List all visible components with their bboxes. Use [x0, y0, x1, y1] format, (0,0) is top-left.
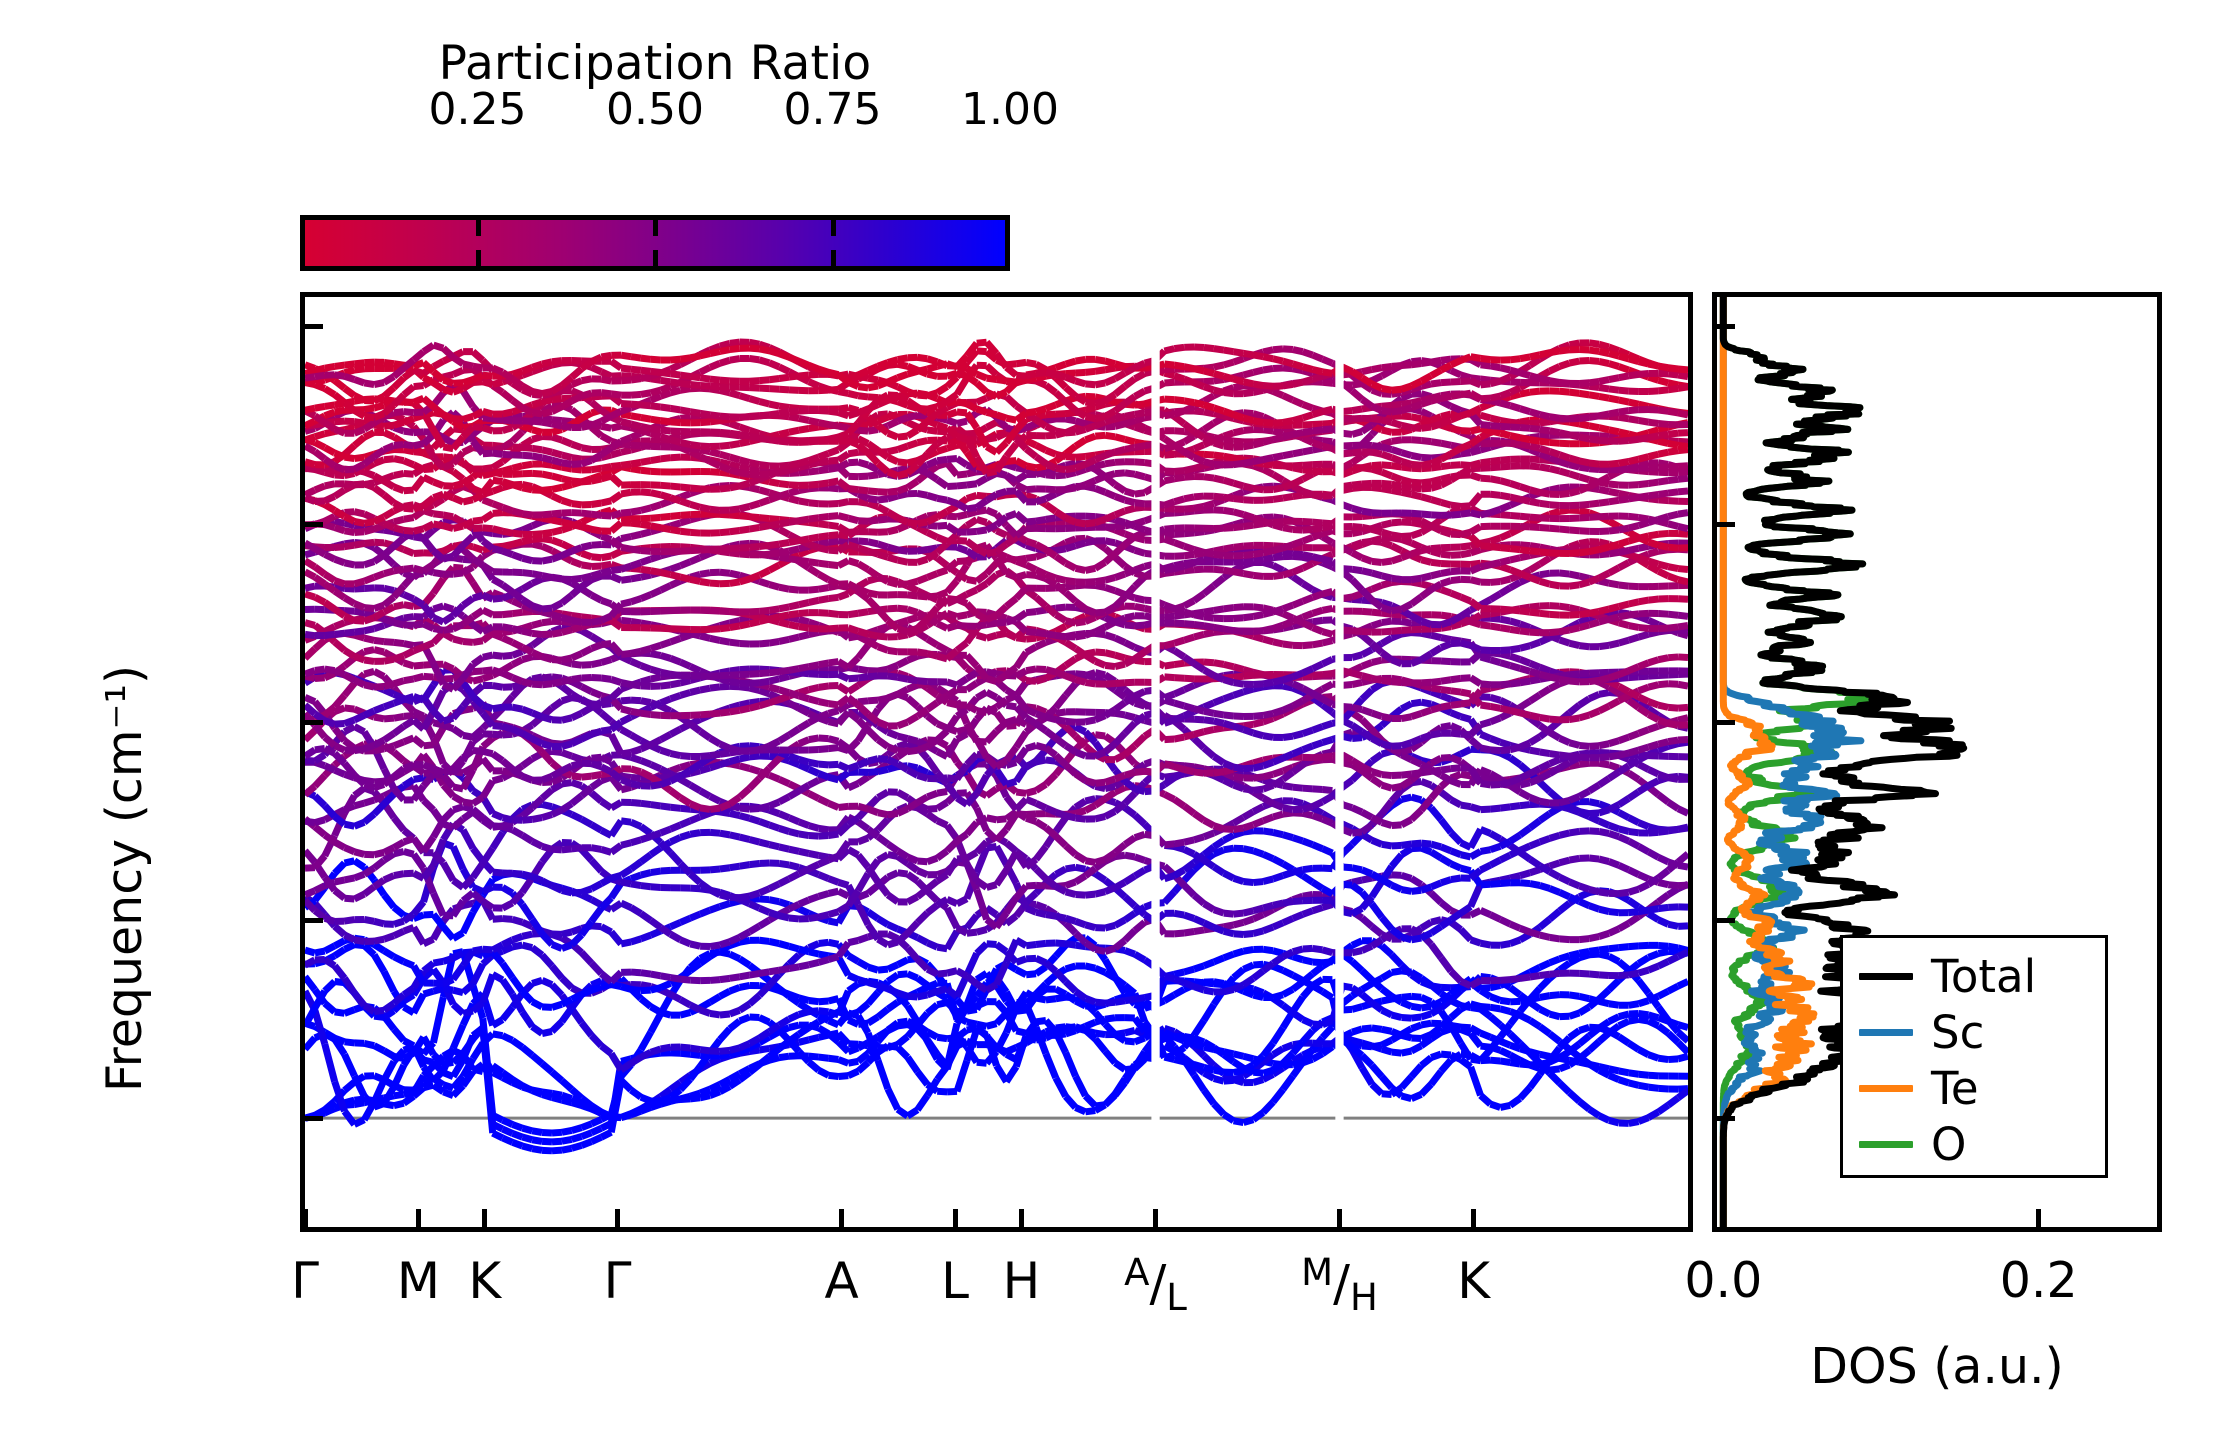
- legend-swatch-sc: [1859, 1029, 1913, 1036]
- participation-ratio-colorbar: [300, 215, 1010, 271]
- band-xtick-label-6: H: [1003, 1252, 1041, 1310]
- path-discontinuity: [1335, 297, 1343, 1227]
- legend-swatch-te: [1859, 1085, 1913, 1092]
- dos-ytick-200: [1717, 918, 1735, 923]
- band-xtick-0: [303, 1209, 308, 1227]
- band-xtick-5: [953, 1209, 958, 1227]
- dos-ytick-400: [1717, 720, 1735, 725]
- colorbar-tick-0: [476, 220, 481, 236]
- band-xtick-1: [416, 1209, 421, 1227]
- legend-swatch-total: [1859, 973, 1913, 980]
- band-xtick-9: [1471, 1209, 1476, 1227]
- band-xtick-3: [615, 1209, 620, 1227]
- dos-ytick-0: [1717, 1116, 1735, 1121]
- band-xtick-7: [1153, 1209, 1158, 1227]
- colorbar-tick-label-0: 0.25: [429, 84, 527, 135]
- legend-label-o: O: [1931, 1122, 1966, 1167]
- colorbar-tick-2: [831, 220, 836, 236]
- legend-item-total: Total: [1843, 948, 2105, 1004]
- dos-xtick-label-1: 0.2: [2000, 1252, 2078, 1309]
- band-structure-plot: [305, 297, 1688, 1227]
- band-xtick-label-4: A: [824, 1252, 858, 1310]
- band-ytick-600: [305, 522, 323, 527]
- colorbar-title: Participation Ratio: [300, 36, 1010, 91]
- band-ytick-400: [305, 720, 323, 725]
- legend-item-te: Te: [1843, 1060, 2105, 1116]
- colorbar-tick-lower-2: [831, 250, 836, 266]
- dos-axis-label: DOS (a.u.): [1712, 1338, 2162, 1395]
- dos-xtick-1: [2036, 1209, 2041, 1227]
- legend-label-total: Total: [1931, 954, 2036, 999]
- phonon-band-structure-axes: [300, 292, 1693, 1232]
- path-discontinuity: [1151, 297, 1159, 1227]
- colorbar-tick-lower-0: [476, 250, 481, 266]
- band-y-axis-label: Frequency (cm⁻¹): [96, 665, 153, 1092]
- band-xtick-label-8: M/H: [1301, 1252, 1378, 1318]
- figure-canvas: Participation Ratio DOS (a.u.) Total Sc …: [0, 0, 2222, 1455]
- colorbar-tick-1: [653, 220, 658, 236]
- dos-xtick-0: [1721, 1209, 1726, 1227]
- band-xtick-label-7: A/L: [1124, 1252, 1187, 1318]
- legend-label-te: Te: [1931, 1066, 1979, 1111]
- colorbar-tick-label-3: 1.00: [961, 84, 1059, 135]
- colorbar-tick-label-1: 0.50: [606, 84, 704, 135]
- band-xtick-label-5: L: [941, 1252, 969, 1310]
- legend-swatch-o: [1859, 1141, 1913, 1148]
- band-xtick-2: [482, 1209, 487, 1227]
- band-xtick-label-2: K: [468, 1252, 501, 1310]
- band-ytick-800: [305, 324, 323, 329]
- band-xtick-label-9: K: [1457, 1252, 1490, 1310]
- band-xtick-4: [839, 1209, 844, 1227]
- dos-ytick-800: [1717, 324, 1735, 329]
- band-ytick-0: [305, 1116, 323, 1121]
- band-ytick-200: [305, 918, 323, 923]
- colorbar-tick-label-2: 0.75: [784, 84, 882, 135]
- legend-item-sc: Sc: [1843, 1004, 2105, 1060]
- dos-legend: Total Sc Te O: [1840, 935, 2108, 1178]
- dos-xtick-label-0: 0.0: [1684, 1252, 1762, 1309]
- band-xtick-label-3: Γ: [604, 1252, 632, 1310]
- legend-label-sc: Sc: [1931, 1010, 1984, 1055]
- band-xtick-label-1: M: [397, 1252, 440, 1310]
- band-xtick-6: [1019, 1209, 1024, 1227]
- colorbar-tick-lower-1: [653, 250, 658, 266]
- dos-ytick-600: [1717, 522, 1735, 527]
- band-xtick-label-0: Γ: [291, 1252, 319, 1310]
- band-xtick-8: [1337, 1209, 1342, 1227]
- legend-item-o: O: [1843, 1116, 2105, 1172]
